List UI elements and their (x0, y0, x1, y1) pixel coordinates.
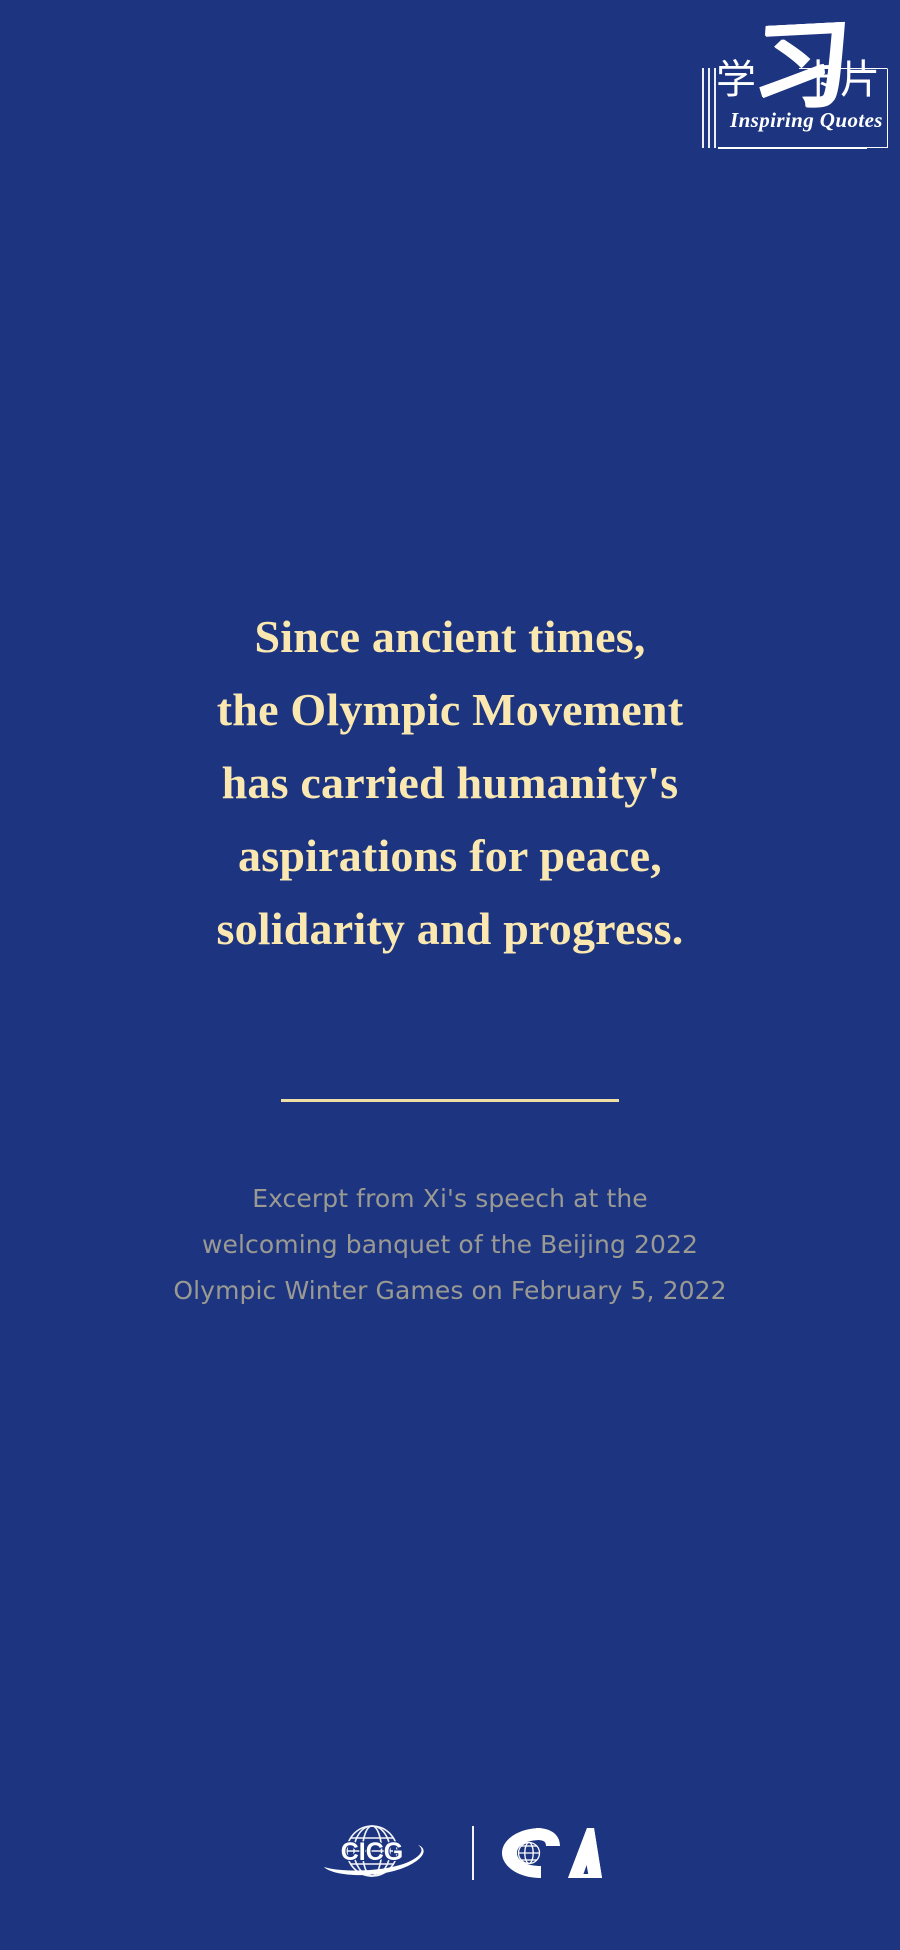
quote-block: Since ancient times, the Olympic Movemen… (0, 600, 900, 965)
quote-line-5: solidarity and progress. (0, 892, 900, 965)
brand-calligraphy-xi: 习 (750, 16, 853, 117)
quote-line-4: aspirations for peace, (0, 819, 900, 892)
attribution-line-3: Olympic Winter Games on February 5, 2022 (0, 1268, 900, 1314)
ca-globe-logo (496, 1824, 606, 1882)
quote-line-1: Since ancient times, (0, 600, 900, 673)
attribution-block: Excerpt from Xi's speech at the welcomin… (0, 1176, 900, 1314)
cicg-globe-logo: CICG (294, 1822, 450, 1884)
quote-line-3: has carried humanity's (0, 746, 900, 819)
attribution-line-2: welcoming banquet of the Beijing 2022 (0, 1222, 900, 1268)
quote-line-2: the Olympic Movement (0, 673, 900, 746)
brand-english-title: Inspiring Quotes (730, 108, 883, 133)
attribution-line-1: Excerpt from Xi's speech at the (0, 1176, 900, 1222)
quote-divider-rule (281, 1099, 619, 1102)
footer-logo-separator (472, 1826, 474, 1880)
footer-logo-row: CICG (0, 1820, 900, 1886)
brand-logo: 学卡片 习 Inspiring Quotes (702, 22, 888, 148)
cicg-wordmark: CICG (341, 1838, 404, 1866)
